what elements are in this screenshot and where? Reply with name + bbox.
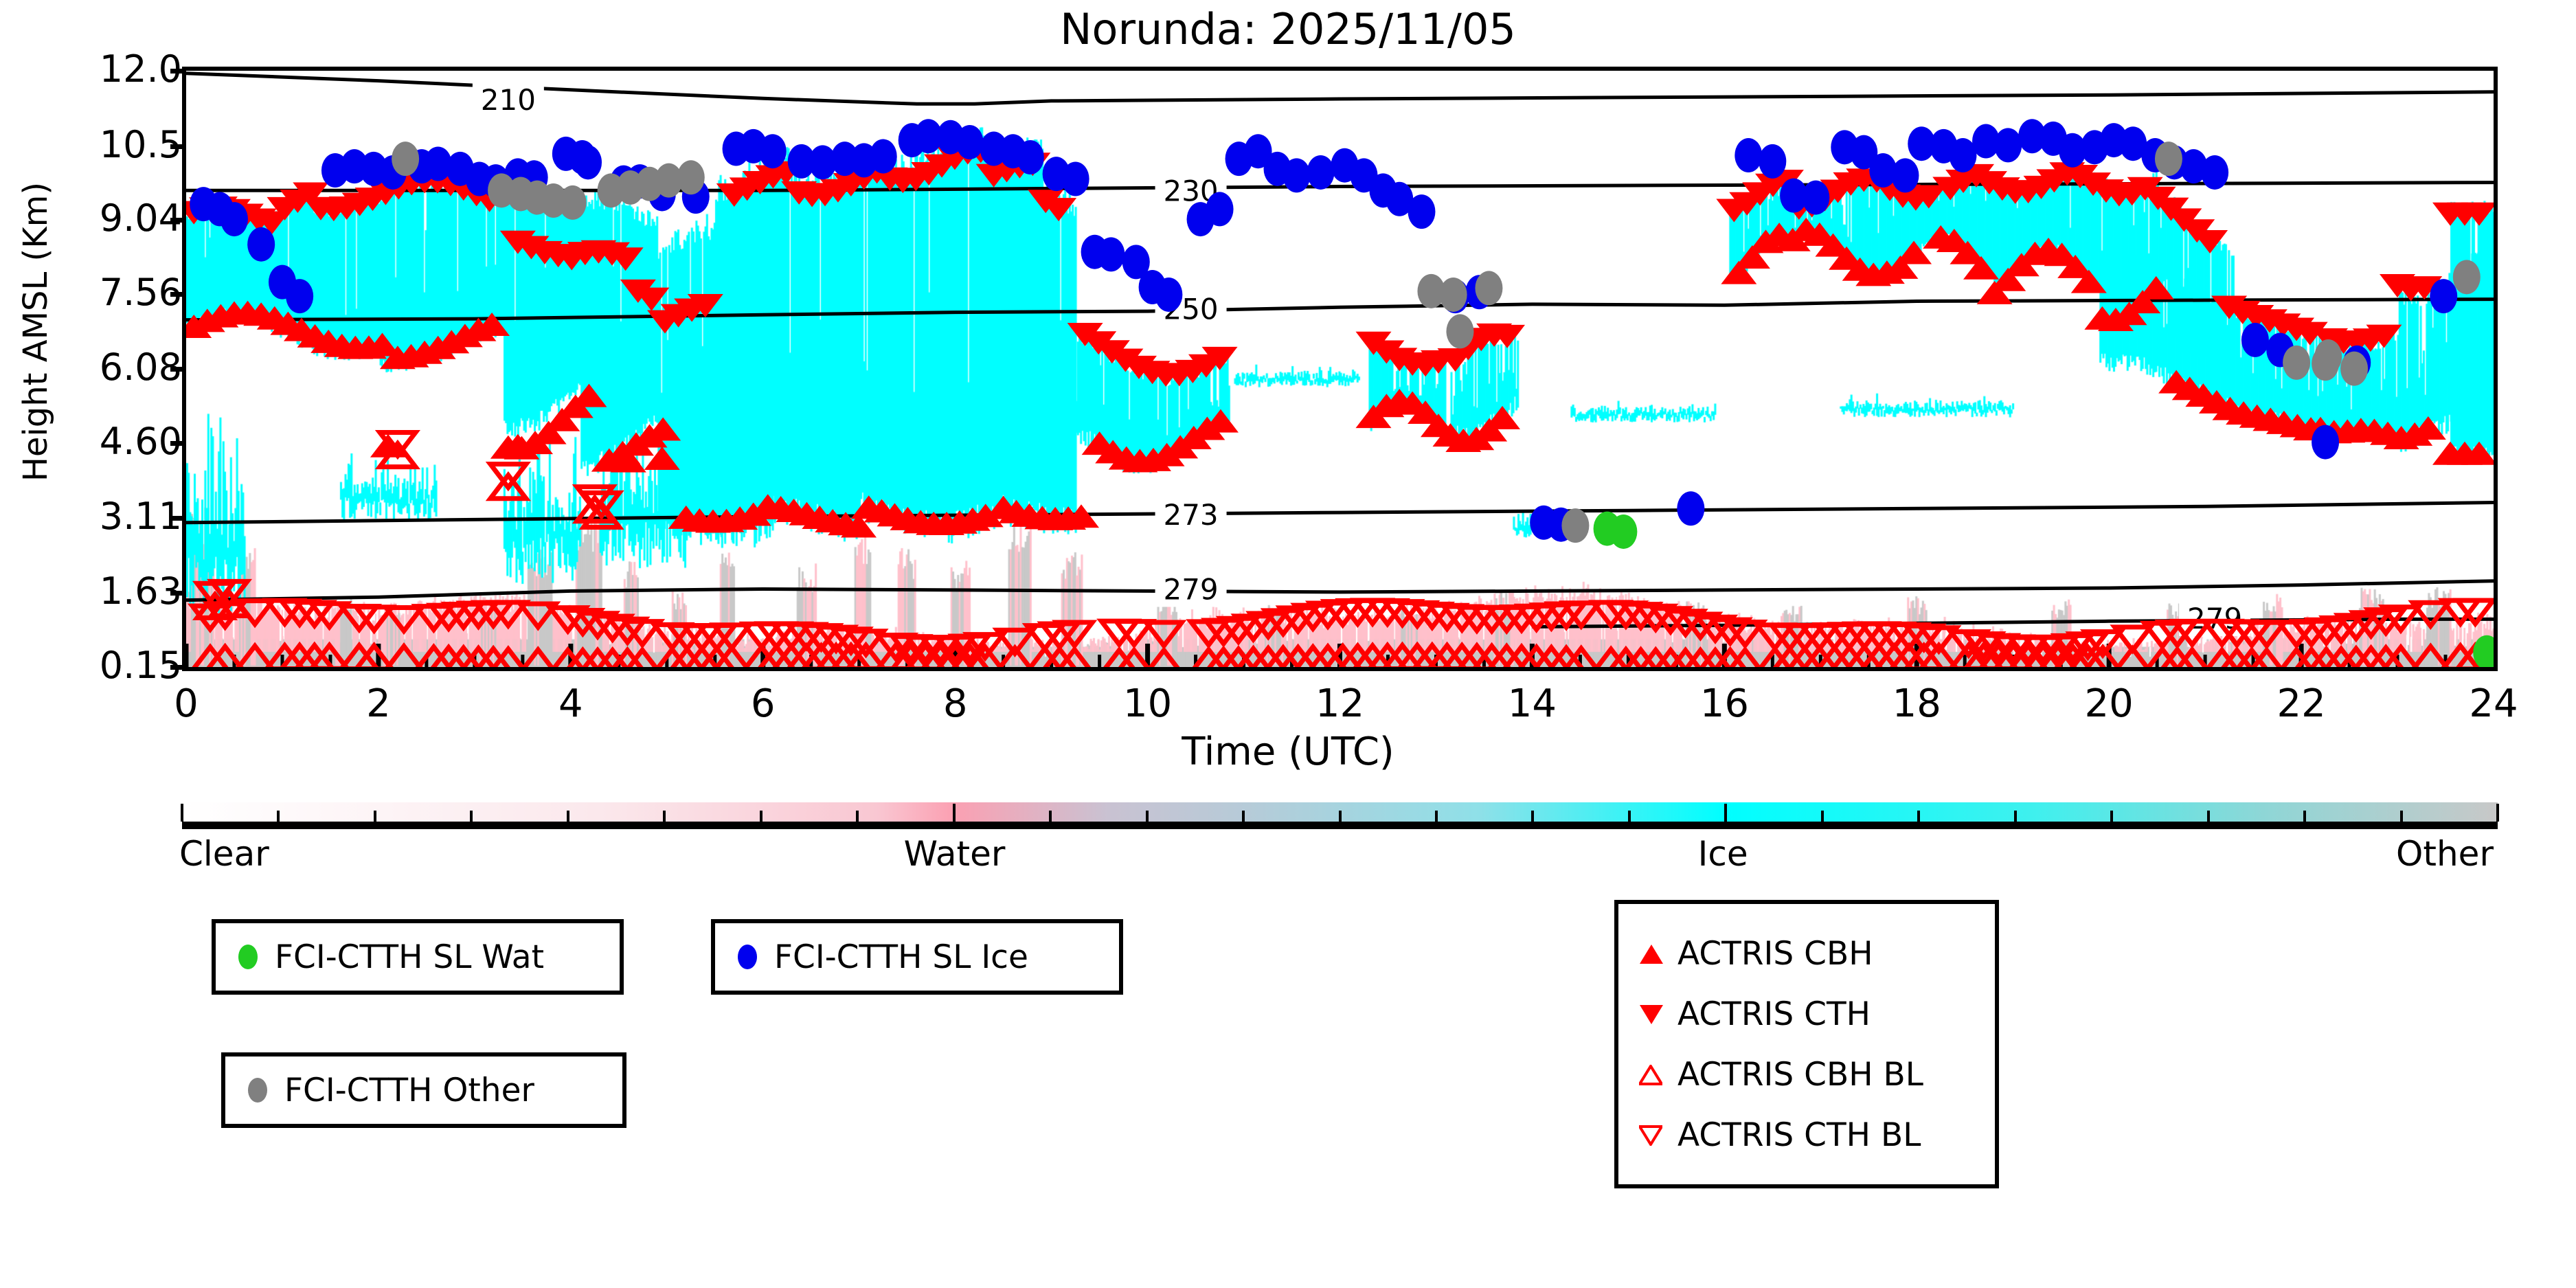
fci-ctth-other-marker — [2155, 142, 2182, 176]
triangle-down-open-icon — [1636, 1120, 1667, 1150]
colorbar-label: Clear — [179, 834, 269, 874]
x-tick-label: 16 — [1676, 681, 1772, 726]
colorbar-tick — [567, 811, 569, 822]
x-tick-label: 4 — [523, 681, 619, 726]
fci-ctth-sl-ice-marker — [1891, 158, 1919, 192]
fci-ctth-sl-ice-marker — [2430, 279, 2457, 313]
colorbar-label: Ice — [1698, 834, 1748, 874]
triangle-up-filled-icon — [1636, 938, 1667, 969]
x-tick-label: 14 — [1484, 681, 1580, 726]
colorbar-tick — [2207, 811, 2210, 822]
colorbar-tick — [1724, 804, 1727, 822]
actris-cth-bl-marker — [386, 607, 422, 631]
triangle-up-open-icon — [1636, 1059, 1667, 1089]
fci-ctth-sl-ice-marker — [574, 145, 602, 179]
colorbar-tick — [2014, 811, 2017, 822]
actris-cth-bl-marker — [997, 630, 1032, 653]
plot-area[interactable]: 210230250273279279 — [182, 67, 2498, 671]
x-tick-label: 12 — [1292, 681, 1388, 726]
colorbar-tick — [760, 811, 762, 822]
x-tick-label: 8 — [907, 681, 1004, 726]
colorbar-label: Other — [2396, 834, 2494, 874]
legend-label: FCI-CTTH SL Ice — [774, 938, 1028, 976]
colorbar-tick — [1146, 811, 1149, 822]
circle-marker-icon — [243, 1075, 273, 1105]
colorbar-tick — [2110, 811, 2113, 822]
legend-label: FCI-CTTH SL Wat — [275, 938, 544, 976]
colorbar-tick — [1531, 811, 1534, 822]
colorbar-tick — [470, 811, 473, 822]
fci-ctth-other-marker — [677, 160, 705, 194]
x-tick-label: 10 — [1100, 681, 1196, 726]
fci-ctth-sl-ice-marker — [221, 202, 248, 236]
circle-marker-icon — [733, 942, 763, 972]
fci-ctth-sl-ice-marker — [870, 139, 897, 174]
colorbar-tick — [953, 804, 956, 822]
actris-cbh-bl-marker — [237, 646, 273, 667]
fci-ctth-sl-ice-marker — [2201, 155, 2228, 190]
legend-label: FCI-CTTH Other — [284, 1072, 534, 1109]
colorbar-baseline — [182, 822, 2498, 829]
fci-ctth-sl-ice-marker — [1994, 128, 2022, 162]
fci-ctth-sl-ice-marker — [1283, 158, 1311, 192]
x-axis-label: Time (UTC) — [0, 730, 2576, 774]
colorbar-tick — [374, 811, 376, 822]
actris-cbh-marker — [571, 384, 607, 407]
fci-ctth-other-marker — [1440, 278, 1467, 312]
actris-cbh-bl-marker — [1146, 651, 1182, 667]
fci-ctth-sl-ice-marker — [2241, 323, 2269, 357]
legend-item[interactable]: FCI-CTTH SL Wat — [234, 937, 620, 977]
x-tick-label: 24 — [2445, 681, 2542, 726]
colorbar-tick — [2496, 804, 2499, 822]
legend-label: ACTRIS CTH — [1677, 995, 1871, 1033]
legend-item[interactable]: FCI-CTTH Other — [243, 1070, 622, 1110]
colorbar-tick — [1242, 811, 1245, 822]
isotherm-line — [186, 503, 2494, 523]
fci-ctth-sl-wat-marker — [1609, 515, 1637, 549]
legend-item[interactable]: FCI-CTTH SL Ice — [733, 937, 1119, 977]
actris-cbh-bl-marker — [520, 650, 556, 667]
fci-ctth-sl-ice-marker — [1017, 140, 1044, 174]
fci-ctth-sl-ice-marker — [1062, 161, 1089, 196]
actris-cth-bl-marker — [2413, 602, 2448, 626]
x-tick-label: 20 — [2061, 681, 2157, 726]
legend-fci-ctth-other[interactable]: FCI-CTTH Other — [221, 1052, 626, 1128]
legend-label: ACTRIS CBH BL — [1677, 1056, 1923, 1094]
x-tick-label: 6 — [715, 681, 811, 726]
x-tick-label: 22 — [2253, 681, 2349, 726]
colorbar-label: Water — [904, 834, 1006, 874]
colorbar-tick — [277, 811, 280, 822]
colorbar-tick — [663, 811, 666, 822]
legend-item-actris-cth[interactable]: ACTRIS CTH — [1636, 984, 1995, 1044]
colorbar-tick — [1628, 811, 1631, 822]
colorbar-tick — [856, 811, 859, 822]
actris-cbh-marker — [1484, 406, 1520, 429]
colorbar-tick — [2400, 811, 2403, 822]
fci-ctth-sl-ice-marker — [1155, 278, 1182, 312]
legend-item-actris-cbh-bl[interactable]: ACTRIS CBH BL — [1636, 1044, 1995, 1105]
legend-fci-ctth-sl-wat[interactable]: FCI-CTTH SL Wat — [212, 919, 624, 995]
fci-ctth-sl-ice-marker — [759, 134, 787, 168]
legend-label: ACTRIS CTH BL — [1677, 1116, 1921, 1154]
actris-cbh-marker — [2138, 276, 2174, 300]
fci-ctth-sl-ice-marker — [286, 279, 313, 313]
fci-ctth-sl-ice-marker — [247, 227, 275, 262]
y-tick-label: 0.15 — [24, 644, 182, 687]
x-tick-label: 2 — [330, 681, 427, 726]
colorbar-tick — [1339, 811, 1342, 822]
fci-ctth-other-marker — [1475, 271, 1502, 305]
fci-ctth-sl-ice-marker — [1307, 155, 1335, 190]
colorbar-tick — [1917, 811, 1920, 822]
colorbar-tick — [1821, 811, 1824, 822]
fci-ctth-sl-ice-marker — [1206, 192, 1234, 226]
legend-actris[interactable]: ACTRIS CBH ACTRIS CTH ACTRIS CBH BL ACTR… — [1614, 900, 1999, 1188]
fci-ctth-sl-ice-marker — [1759, 144, 1786, 179]
legend-item-actris-cbh[interactable]: ACTRIS CBH — [1636, 923, 1995, 984]
actris-cth-bl-marker — [2114, 627, 2150, 651]
colorbar-tick — [1435, 811, 1438, 822]
fci-ctth-other-marker — [1561, 508, 1589, 543]
isotherm-210: 210 — [186, 74, 2494, 117]
fci-ctth-other-marker — [2314, 339, 2342, 374]
circle-marker-icon — [234, 942, 264, 972]
fci-ctth-sl-ice-marker — [2312, 425, 2339, 460]
legend-item-actris-cth-bl[interactable]: ACTRIS CTH BL — [1636, 1105, 1995, 1165]
actris-cbh-bl-marker — [2413, 646, 2448, 667]
fci-ctth-other-marker — [2283, 346, 2310, 380]
isotherm-label: 210 — [481, 83, 536, 117]
figure-root: Norunda: 2025/11/05 12.010.59.047.566.08… — [0, 0, 2576, 1288]
fci-ctth-sl-ice-marker — [956, 125, 984, 159]
actris-cbh-bl-marker — [386, 646, 422, 667]
colorbar-tick — [2303, 811, 2306, 822]
page-title: Norunda: 2025/11/05 — [0, 4, 2576, 54]
x-tick-label: 18 — [1868, 681, 1965, 726]
fci-ctth-other-marker — [2453, 260, 2481, 294]
colorbar[interactable] — [182, 802, 2498, 830]
fci-ctth-other-marker — [2340, 352, 2368, 386]
legend-label: ACTRIS CBH — [1677, 935, 1873, 973]
y-axis-label: Height AMSL (Km) — [16, 57, 55, 607]
isotherm-273: 273 — [186, 497, 2494, 532]
fci-ctth-sl-wat-marker — [2473, 635, 2494, 667]
triangle-down-filled-icon — [1636, 999, 1667, 1029]
markers-overlay: 210230250273279279 — [186, 71, 2494, 667]
fci-ctth-sl-ice-marker — [1408, 194, 1435, 229]
fci-ctth-sl-ice-marker — [1097, 237, 1125, 271]
legend-fci-ctth-sl-ice[interactable]: FCI-CTTH SL Ice — [711, 919, 1123, 995]
fci-ctth-sl-ice-marker — [1677, 491, 1704, 526]
colorbar-tick — [1049, 811, 1052, 822]
isotherm-line — [186, 581, 2494, 600]
fci-ctth-other-marker — [559, 185, 587, 220]
fci-ctth-other-marker — [1446, 314, 1473, 348]
colorbar-tick — [181, 804, 183, 822]
fci-ctth-other-marker — [392, 142, 419, 176]
fci-ctth-sl-ice-marker — [1802, 181, 1829, 215]
actris-cth-bl-marker — [1146, 622, 1182, 646]
isotherm-label: 279 — [1163, 572, 1218, 606]
isotherm-label: 273 — [1163, 498, 1218, 532]
fci-ctth-sl-ice-marker — [1735, 138, 1762, 172]
x-tick-label: 0 — [138, 681, 234, 726]
